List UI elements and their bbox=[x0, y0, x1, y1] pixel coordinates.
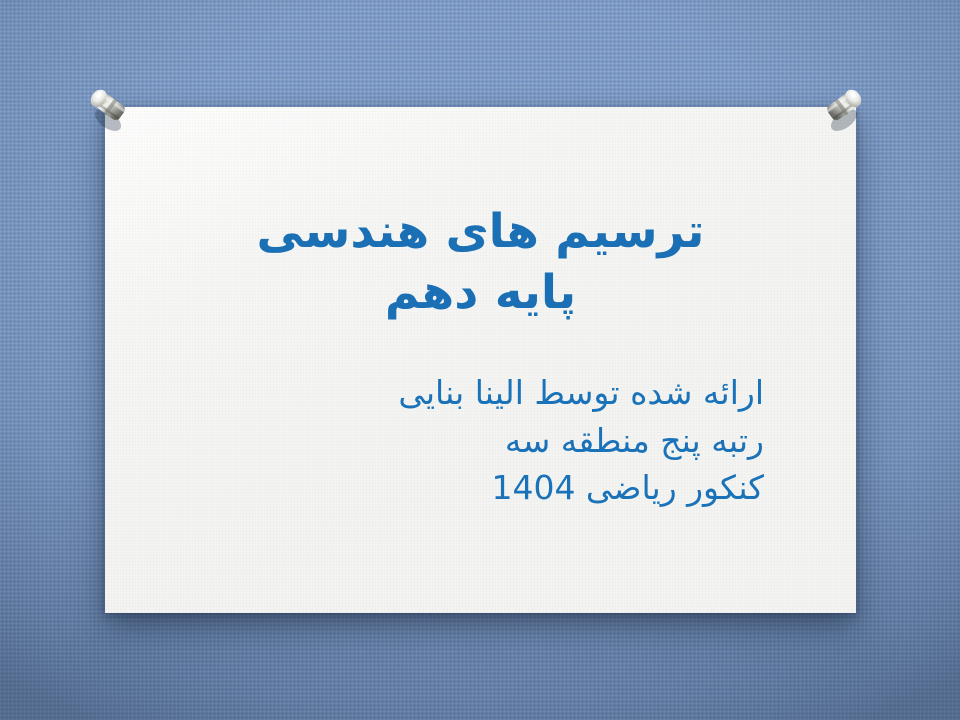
paper-card: ترسیم های هندسی پایه دهم ارائه شده توسط … bbox=[105, 107, 856, 613]
slide-text-area: ترسیم های هندسی پایه دهم ارائه شده توسط … bbox=[105, 107, 856, 613]
slide-subtitle-line-1: ارائه شده توسط الینا بنایی bbox=[145, 369, 764, 417]
slide-subtitle-line-2: رتبه پنج منطقه سه bbox=[145, 417, 764, 465]
slide-title: ترسیم های هندسی پایه دهم bbox=[105, 201, 856, 323]
slide-canvas: ترسیم های هندسی پایه دهم ارائه شده توسط … bbox=[0, 0, 960, 720]
slide-title-line-1: ترسیم های هندسی bbox=[105, 201, 856, 262]
slide-subtitle: ارائه شده توسط الینا بنایی رتبه پنج منطق… bbox=[145, 369, 764, 512]
slide-subtitle-line-3: کنکور ریاضی 1404 bbox=[145, 464, 764, 512]
slide-title-line-2: پایه دهم bbox=[105, 262, 856, 323]
push-pin-left-icon[interactable] bbox=[76, 74, 138, 136]
push-pin-right-icon[interactable] bbox=[814, 74, 876, 136]
